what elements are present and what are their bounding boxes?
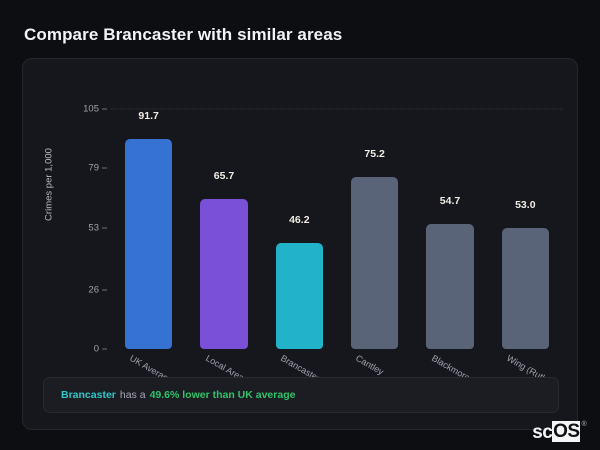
x-axis-category-label: Cantley [354, 353, 385, 377]
comparison-annotation: Brancasterhas a49.6% lower than UK avera… [43, 377, 559, 413]
y-axis-tick-mark [102, 289, 107, 290]
page-title: Compare Brancaster with similar areas [24, 25, 342, 45]
annotation-middle-text: has a [120, 389, 146, 401]
bar-value-label: 46.2 [276, 214, 323, 226]
y-axis-tick-mark [102, 109, 107, 110]
y-axis-title: Crimes per 1,000 [44, 125, 55, 245]
gridline [111, 109, 563, 110]
logo-prefix: sc [532, 423, 552, 442]
y-axis-tick-label: 105 [83, 104, 99, 115]
y-axis-tick-mark [102, 349, 107, 350]
bar-chart: Crimes per 1,000 0265379105 91.7UK Avera… [23, 59, 579, 369]
logo-boxed-text: OS [552, 421, 580, 442]
screenshot-root: Compare Brancaster with similar areas Cr… [0, 0, 600, 450]
y-axis-tick-mark [102, 227, 107, 228]
bar-value-label: 91.7 [125, 110, 172, 122]
scos-logo: scOS® [532, 421, 586, 442]
bar-cantley[interactable] [351, 177, 398, 349]
y-axis-tick-label: 53 [88, 222, 99, 233]
annotation-delta-text: 49.6% lower than UK average [150, 389, 296, 401]
bar-value-label: 53.0 [502, 199, 549, 211]
bar-blackmore[interactable] [426, 224, 473, 349]
chart-card: Crimes per 1,000 0265379105 91.7UK Avera… [22, 58, 578, 430]
y-axis-tick-mark [102, 168, 107, 169]
registered-icon: ® [581, 421, 586, 428]
y-axis-tick-label: 0 [94, 344, 99, 355]
bar-wing-rutl[interactable] [502, 228, 549, 349]
bar-local-area[interactable] [200, 199, 247, 349]
bar-value-label: 54.7 [426, 195, 473, 207]
plot-area: 91.7UK Average65.7Local Area46.2Brancast… [111, 59, 563, 369]
y-axis-ticks: 0265379105 [61, 59, 99, 369]
y-axis-tick-label: 26 [88, 284, 99, 295]
bar-uk-average[interactable] [125, 139, 172, 349]
bar-brancaster[interactable] [276, 243, 323, 349]
bar-value-label: 75.2 [351, 148, 398, 160]
annotation-area-name: Brancaster [61, 389, 116, 401]
y-axis-tick-label: 79 [88, 163, 99, 174]
bar-value-label: 65.7 [200, 170, 247, 182]
